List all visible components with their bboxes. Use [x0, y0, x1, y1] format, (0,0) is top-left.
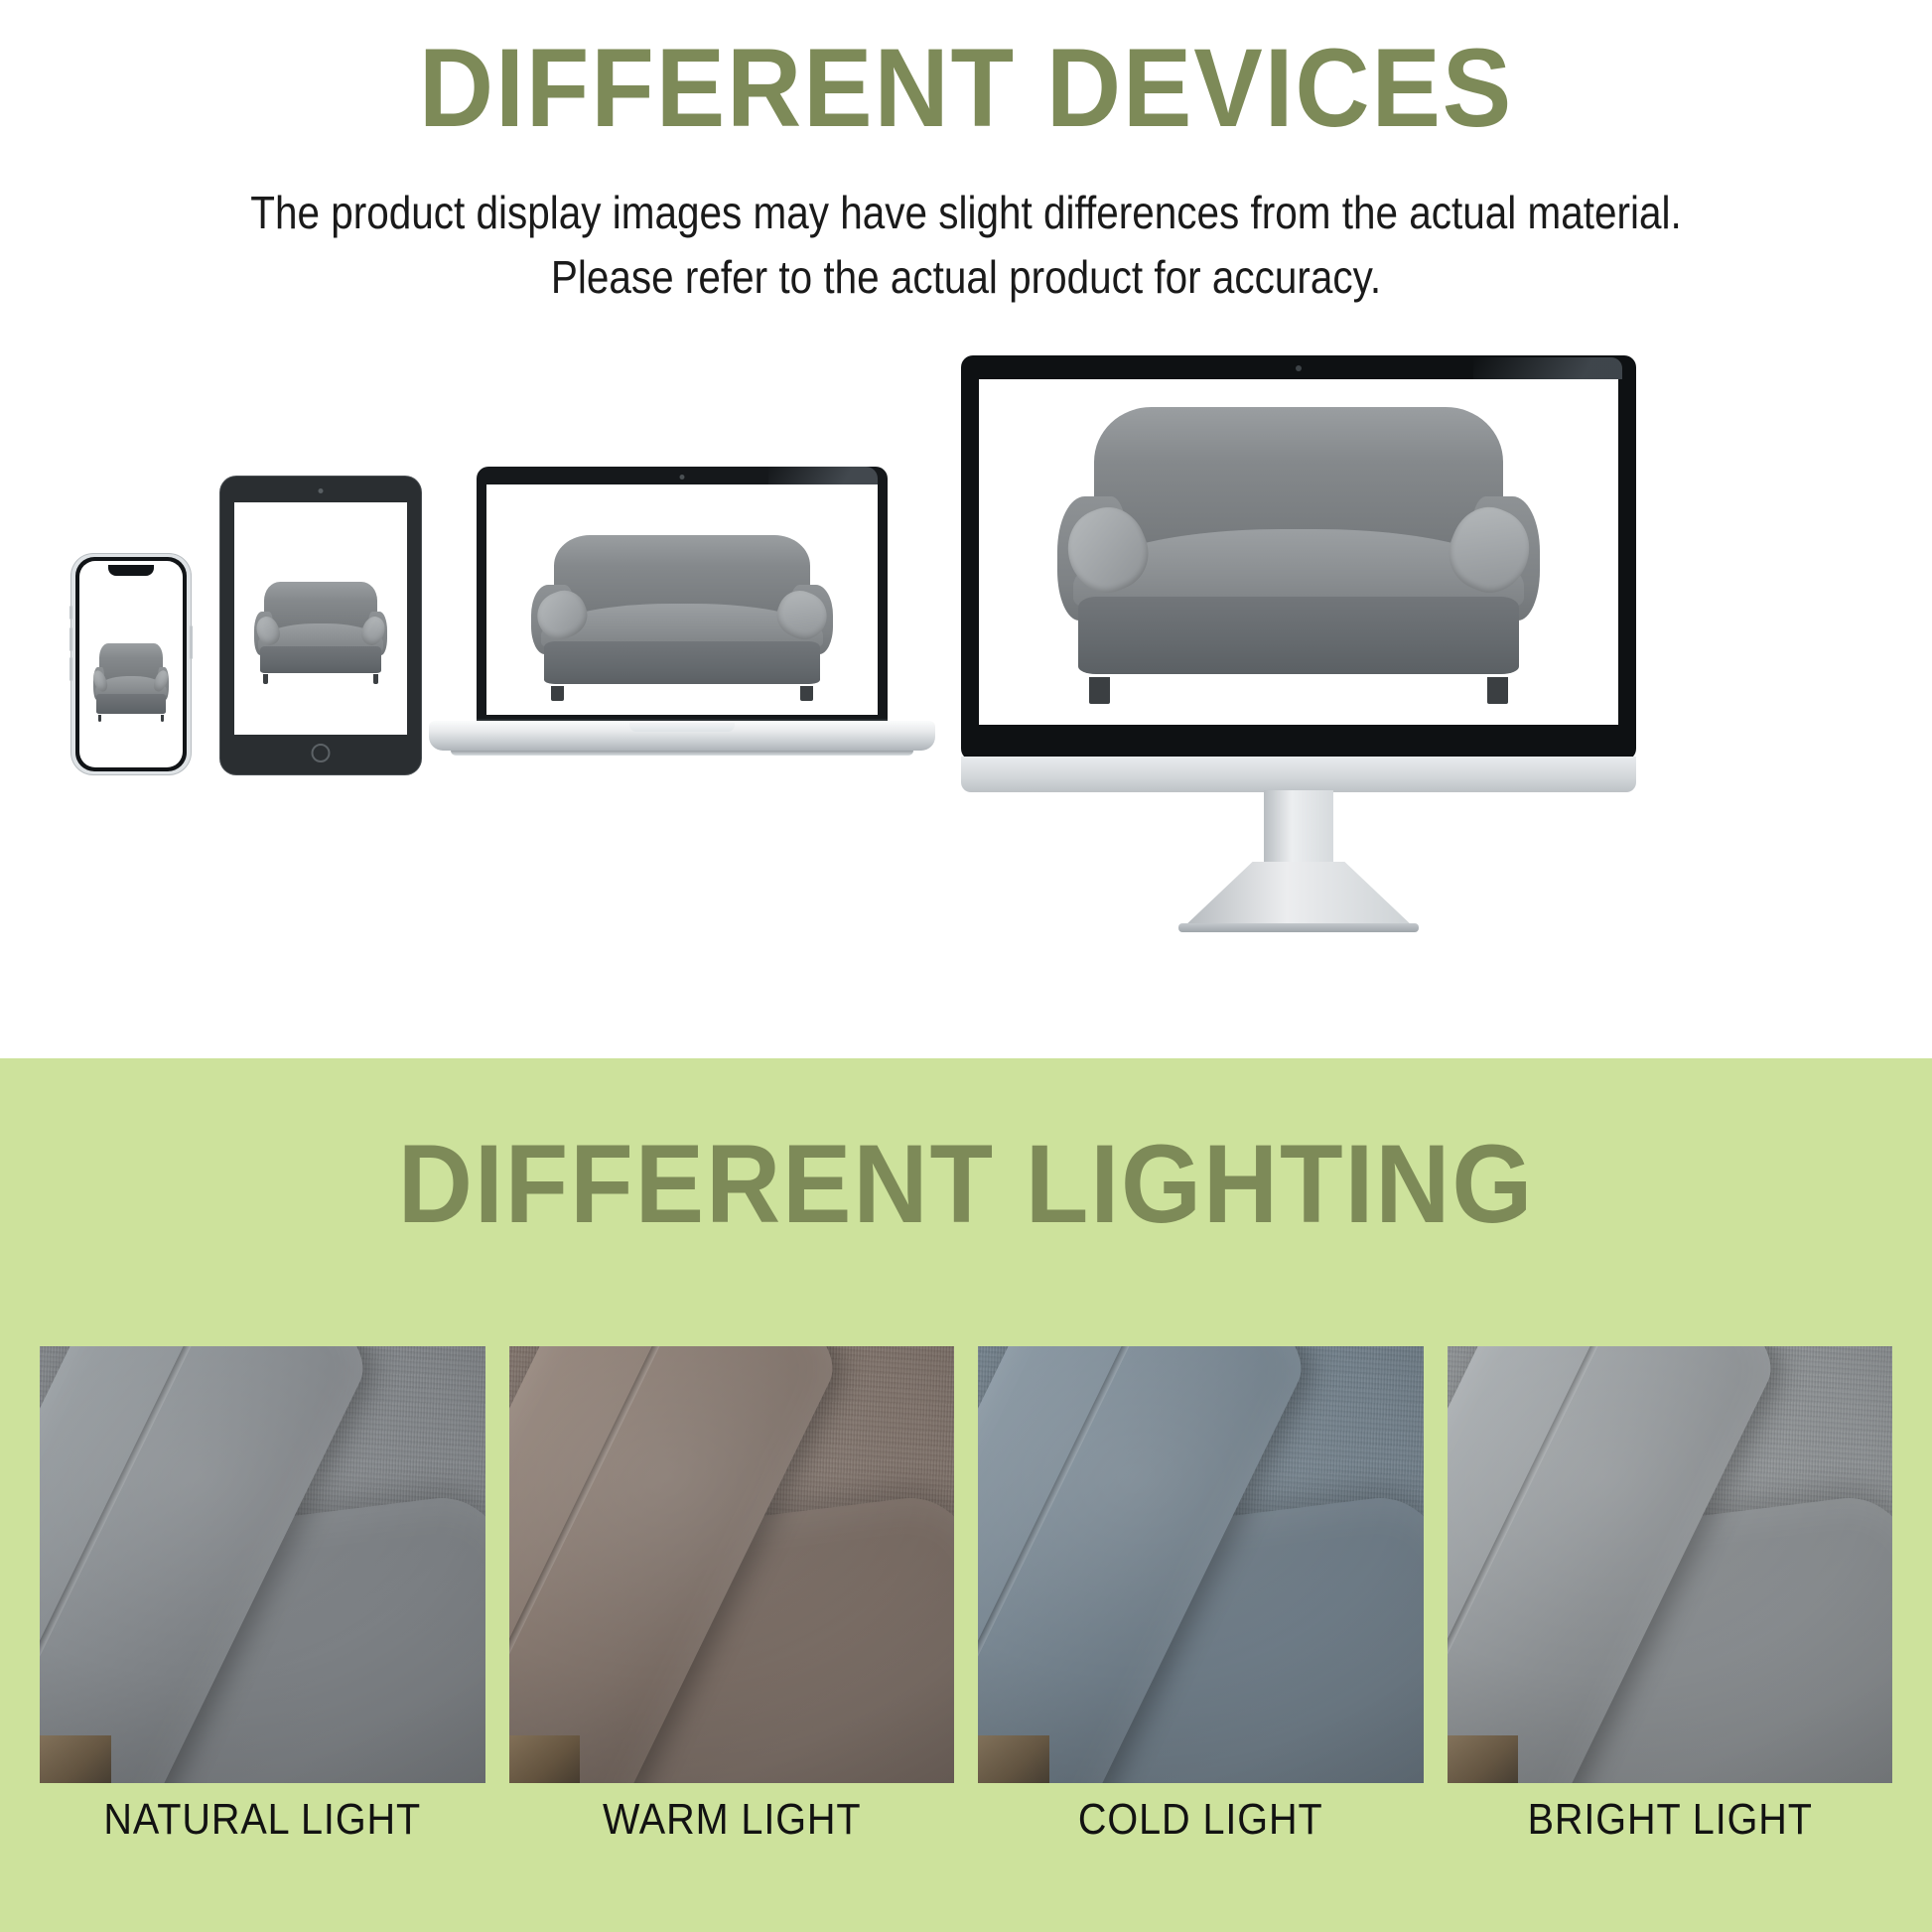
devices-subtitle-line2: Please refer to the actual product for a…: [116, 245, 1816, 310]
phone-power-button: [190, 625, 193, 659]
laptop-screen-glare: [768, 467, 878, 486]
devices-subtitle-line1: The product display images may have slig…: [250, 187, 1681, 238]
laptop-front-edge: [451, 751, 913, 756]
tablet-home-button[interactable]: [312, 744, 331, 762]
laptop-lid-notch: [629, 723, 735, 732]
tablet-camera-icon: [319, 488, 324, 493]
sofa-right-foot: [1487, 677, 1508, 704]
fabric-swatch-image: [978, 1346, 1424, 1783]
sofa-left-foot: [98, 715, 101, 722]
devices-subtitle: The product display images may have slig…: [116, 181, 1816, 311]
sofa-left-foot: [551, 686, 564, 701]
lighting-swatch-row: NATURAL LIGHT WARM LIGHT: [40, 1346, 1892, 1843]
sofa-product-image: [89, 643, 172, 722]
phone-screen: [79, 561, 183, 767]
sofa-backrest: [1094, 407, 1503, 544]
fabric-swatch-image: [1448, 1346, 1893, 1783]
sofa-left-foot: [1089, 677, 1110, 704]
monitor-bezel: [961, 355, 1636, 760]
sofa-right-foot: [800, 686, 813, 701]
infographic-page: DIFFERENT DEVICES The product display im…: [0, 0, 1932, 1932]
monitor-screen: [979, 379, 1618, 725]
laptop-screen: [486, 484, 878, 715]
monitor-camera-icon: [1296, 365, 1302, 371]
sofa-right-foot: [161, 715, 164, 722]
different-devices-section: DIFFERENT DEVICES The product display im…: [0, 0, 1932, 1058]
monitor-neck: [1264, 790, 1333, 868]
lighting-swatch-bright: BRIGHT LIGHT: [1448, 1346, 1893, 1843]
phone-volume-up-button: [69, 627, 72, 651]
swatch-label: NATURAL LIGHT: [62, 1795, 463, 1845]
fabric-vignette: [978, 1346, 1424, 1783]
fabric-vignette: [509, 1346, 955, 1783]
laptop-mockup: [429, 467, 935, 774]
sofa-product-image: [518, 535, 847, 701]
sofa-base: [260, 646, 382, 673]
laptop-camera-icon: [680, 475, 685, 480]
sofa-backrest: [99, 643, 164, 679]
sofa-base: [96, 694, 166, 715]
lighting-swatch-natural: NATURAL LIGHT: [40, 1346, 485, 1843]
phone-volume-down-button: [69, 657, 72, 681]
phone-notch-icon: [108, 565, 154, 576]
laptop-lid: [477, 467, 888, 723]
phone-frame: [75, 557, 187, 771]
smartphone-mockup: [71, 554, 191, 774]
sofa-base: [1078, 597, 1519, 674]
desktop-monitor-mockup: [961, 355, 1636, 951]
tablet-mockup: [220, 477, 421, 774]
fabric-swatch-image: [509, 1346, 955, 1783]
swatch-label: WARM LIGHT: [531, 1795, 932, 1845]
device-mockup-row: [0, 357, 1932, 973]
monitor-stand: [1183, 862, 1414, 927]
sofa-backrest: [554, 535, 810, 612]
monitor-screen-glare: [1473, 357, 1622, 379]
phone-mute-switch: [69, 606, 72, 620]
sofa-base: [544, 641, 820, 684]
sofa-right-foot: [373, 674, 379, 683]
fabric-swatch-image: [40, 1346, 485, 1783]
monitor-stand-base: [1178, 923, 1419, 932]
fabric-vignette: [1448, 1346, 1893, 1783]
lighting-swatch-cold: COLD LIGHT: [978, 1346, 1424, 1843]
lighting-title: DIFFERENT LIGHTING: [68, 1120, 1864, 1248]
sofa-product-image: [1036, 407, 1561, 704]
fabric-vignette: [40, 1346, 485, 1783]
different-lighting-section: DIFFERENT LIGHTING NATURAL LIGHT: [0, 1058, 1932, 1932]
devices-title: DIFFERENT DEVICES: [68, 30, 1864, 147]
swatch-label: COLD LIGHT: [1000, 1795, 1401, 1845]
swatch-label: BRIGHT LIGHT: [1469, 1795, 1870, 1845]
sofa-left-foot: [263, 674, 269, 683]
tablet-screen: [234, 502, 407, 735]
sofa-backrest: [264, 582, 377, 628]
sofa-product-image: [248, 582, 393, 684]
lighting-swatch-warm: WARM LIGHT: [509, 1346, 955, 1843]
monitor-chin: [961, 757, 1636, 792]
